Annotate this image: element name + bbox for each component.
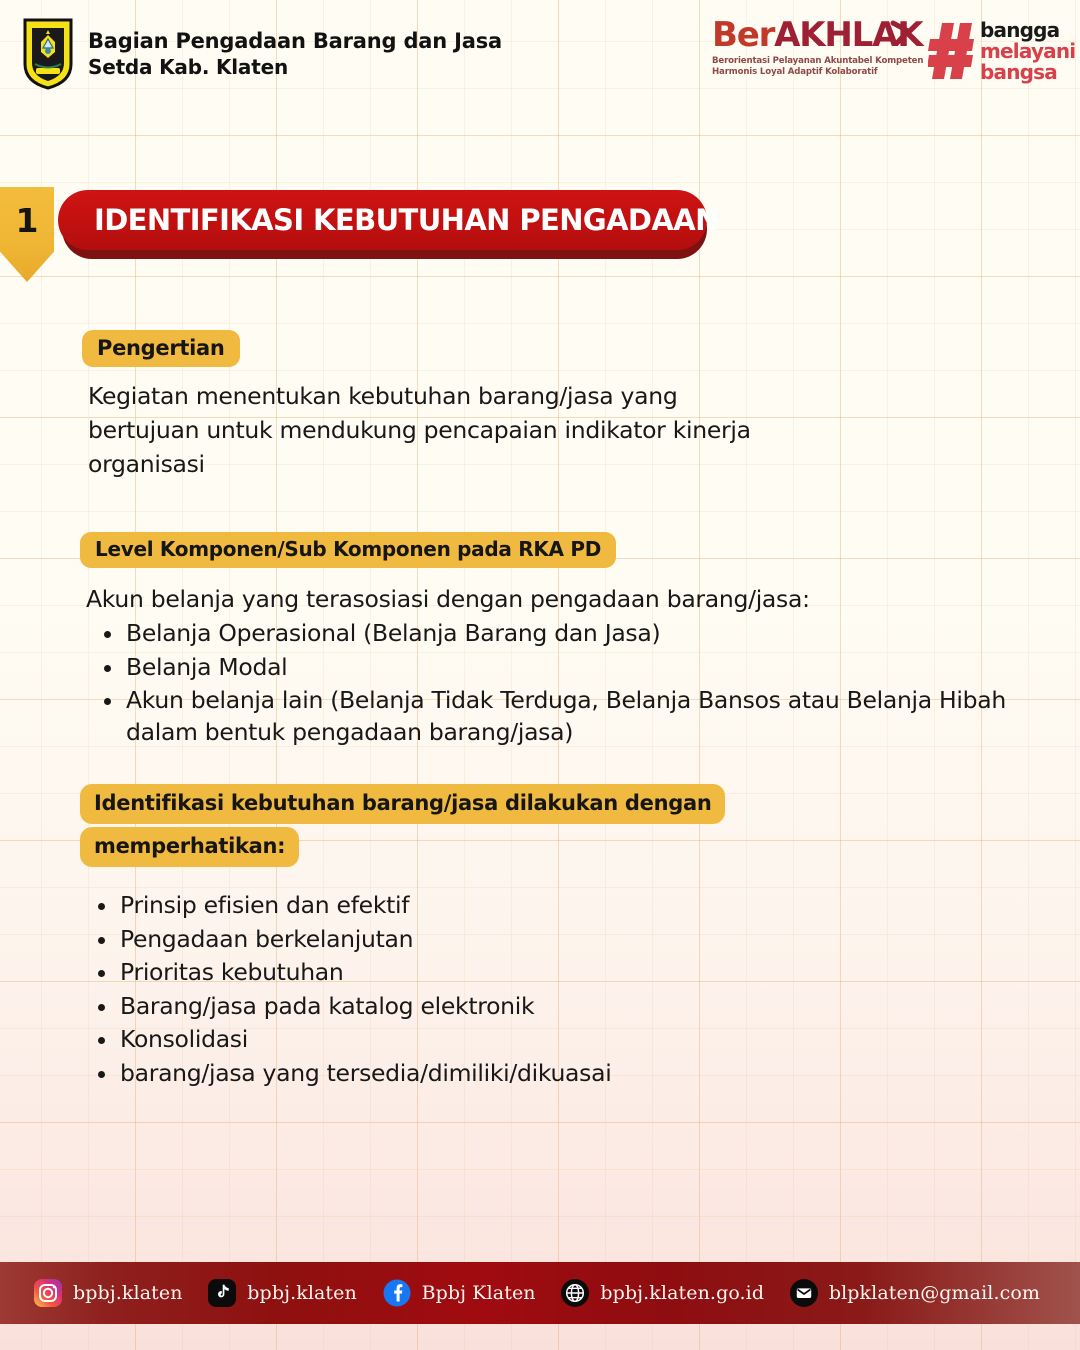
list-item: Pengadaan berkelanjutan <box>120 924 720 955</box>
list-item: Barang/jasa pada katalog elektronik <box>120 991 720 1022</box>
org-line-1: Bagian Pengadaan Barang dan Jasa <box>88 29 502 55</box>
footer-item-instagram[interactable]: bpbj.klaten <box>34 1279 183 1307</box>
bangga-melayani-bangsa-logo: bangga melayani bangsa <box>928 20 1075 82</box>
brand-block: Bagian Pengadaan Barang dan Jasa Setda K… <box>22 18 502 90</box>
klaten-coat-of-arms-icon <box>22 18 74 90</box>
list-item: Konsolidasi <box>120 1024 720 1055</box>
bangga-line-3: bangsa <box>980 62 1075 82</box>
list-item: Akun belanja lain (Belanja Tidak Terduga… <box>126 685 1031 748</box>
org-line-2: Setda Kab. Klaten <box>88 55 502 79</box>
footer-label: blpklaten@gmail.com <box>829 1282 1040 1304</box>
bangga-line-2: melayani <box>980 41 1075 61</box>
section-level-komponen: Level Komponen/Sub Komponen pada RKA PD … <box>80 532 1031 750</box>
pengertian-heading: Pengertian <box>82 330 240 367</box>
brand-text: Bagian Pengadaan Barang dan Jasa Setda K… <box>88 29 502 79</box>
berakhlak-tagline-line-1: Berorientasi Pelayanan Akuntabel Kompete… <box>712 56 912 67</box>
globe-icon <box>561 1279 589 1307</box>
list-item: Belanja Modal <box>126 652 1031 683</box>
title-banner: IDENTIFIKASI KEBUTUHAN PENGADAAN 1 <box>0 187 760 287</box>
tiktok-icon <box>208 1279 236 1307</box>
facebook-icon <box>383 1279 411 1307</box>
berakhlak-prefix: Ber <box>712 15 774 55</box>
infographic-page: Bagian Pengadaan Barang dan Jasa Setda K… <box>0 0 1080 1350</box>
chevron-right-icon <box>888 20 914 46</box>
pengertian-text: Kegiatan menentukan kebutuhan barang/jas… <box>88 379 768 481</box>
footer-label: bpbj.klaten <box>247 1282 357 1304</box>
identifikasi-list: Prinsip efisien dan efektif Pengadaan be… <box>80 890 720 1089</box>
bangga-line-1: bangga <box>980 20 1075 40</box>
section-identifikasi: Identifikasi kebutuhan barang/jasa dilak… <box>80 782 720 1091</box>
footer-label: bpbj.klaten <box>73 1282 183 1304</box>
header: Bagian Pengadaan Barang dan Jasa Setda K… <box>0 0 1080 110</box>
step-number-tag: 1 <box>0 187 54 282</box>
footer-item-facebook[interactable]: Bpbj Klaten <box>383 1279 536 1307</box>
footer-item-website[interactable]: bpbj.klaten.go.id <box>561 1279 764 1307</box>
list-item: Belanja Operasional (Belanja Barang dan … <box>126 618 1031 649</box>
list-item: Prioritas kebutuhan <box>120 957 720 988</box>
email-icon <box>790 1279 818 1307</box>
footer-bar: bpbj.klaten bpbj.klaten Bpbj Klaten <box>0 1262 1080 1324</box>
level-heading: Level Komponen/Sub Komponen pada RKA PD <box>80 532 616 568</box>
banner-bar: IDENTIFIKASI KEBUTUHAN PENGADAAN <box>58 190 707 250</box>
berakhlak-logo: BerAKHLAK Berorientasi Pelayanan Akuntab… <box>712 18 912 79</box>
identifikasi-heading: Identifikasi kebutuhan barang/jasa dilak… <box>80 784 725 867</box>
footer-item-tiktok[interactable]: bpbj.klaten <box>208 1279 357 1307</box>
bangga-wordmark: bangga melayani bangsa <box>980 20 1075 82</box>
footer-label: Bpbj Klaten <box>422 1282 536 1304</box>
list-item: barang/jasa yang tersedia/dimiliki/dikua… <box>120 1058 820 1089</box>
berakhlak-wordmark: BerAKHLAK <box>712 18 912 52</box>
step-number: 1 <box>0 201 54 240</box>
footer-item-email[interactable]: blpklaten@gmail.com <box>790 1279 1040 1307</box>
hashtag-icon <box>928 21 974 81</box>
berakhlak-tagline: Berorientasi Pelayanan Akuntabel Kompete… <box>712 56 912 79</box>
section-pengertian: Pengertian Kegiatan menentukan kebutuhan… <box>82 330 768 481</box>
page-title: IDENTIFIKASI KEBUTUHAN PENGADAAN <box>94 203 719 237</box>
level-lead-text: Akun belanja yang terasosiasi dengan pen… <box>86 582 1031 616</box>
footer-label: bpbj.klaten.go.id <box>600 1282 764 1304</box>
level-list: Belanja Operasional (Belanja Barang dan … <box>86 618 1031 748</box>
list-item: Prinsip efisien dan efektif <box>120 890 720 921</box>
berakhlak-tagline-line-2: Harmonis Loyal Adaptif Kolaboratif <box>712 67 912 78</box>
instagram-icon <box>34 1279 62 1307</box>
